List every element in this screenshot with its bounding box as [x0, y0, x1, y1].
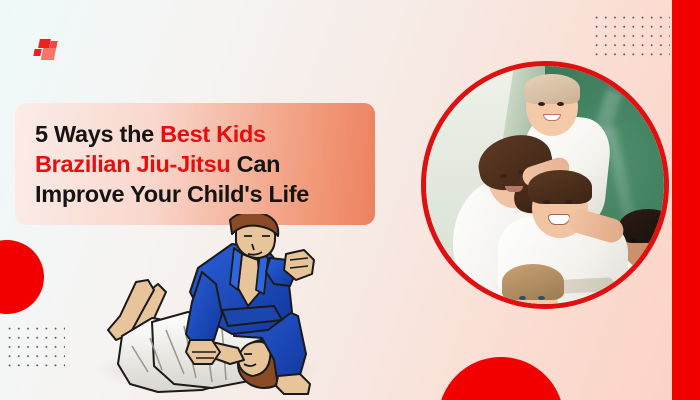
photo-boy-center-eye-right — [565, 200, 573, 204]
photo-boy-center-hair — [528, 170, 592, 204]
title-segment-plain-1: 5 Ways the — [35, 121, 160, 147]
title-segment-plain-3: Child's Life — [187, 181, 309, 207]
article-hero-banner: 5 Ways the Best Kids Brazilian Jiu-Jitsu… — [0, 0, 700, 400]
logo-shard-2 — [49, 41, 57, 48]
judo-grappling-illustration — [92, 214, 336, 400]
photo-boy-top-hair — [524, 74, 580, 104]
photo-child-right-hair — [619, 209, 664, 243]
photo-boy-top-eye-left — [538, 102, 545, 106]
logo-shard-3 — [33, 49, 41, 56]
headline-card: 5 Ways the Best Kids Brazilian Jiu-Jitsu… — [15, 103, 375, 225]
kids-karate-class-photo — [421, 61, 669, 309]
logo-shard-4 — [41, 48, 56, 60]
blue-fighter-foot — [276, 374, 310, 394]
red-circle-bottom-decoration — [438, 357, 564, 400]
photo-child-bottom-hair — [502, 264, 564, 300]
photo-child-bottom-eye-left — [519, 296, 526, 300]
red-vertical-bar-decoration — [672, 0, 700, 400]
dot-grid-bottom-left-icon — [5, 324, 65, 373]
photo-content — [426, 66, 664, 304]
brand-logo-icon[interactable] — [34, 39, 60, 61]
photo-child-right-eye — [630, 238, 637, 242]
dot-grid-top-right-icon — [592, 13, 670, 61]
photo-boy-top-eye-right — [557, 102, 564, 106]
photo-boy-center-mouth — [548, 214, 570, 225]
title-segment-highlight-2: Jiu-Jitsu — [136, 151, 230, 177]
photo-child-bottom-eye-right — [538, 296, 545, 300]
page-title: 5 Ways the Best Kids Brazilian Jiu-Jitsu… — [35, 119, 357, 209]
red-circle-left-decoration — [0, 240, 44, 314]
photo-boy-center-eye-left — [543, 200, 551, 204]
